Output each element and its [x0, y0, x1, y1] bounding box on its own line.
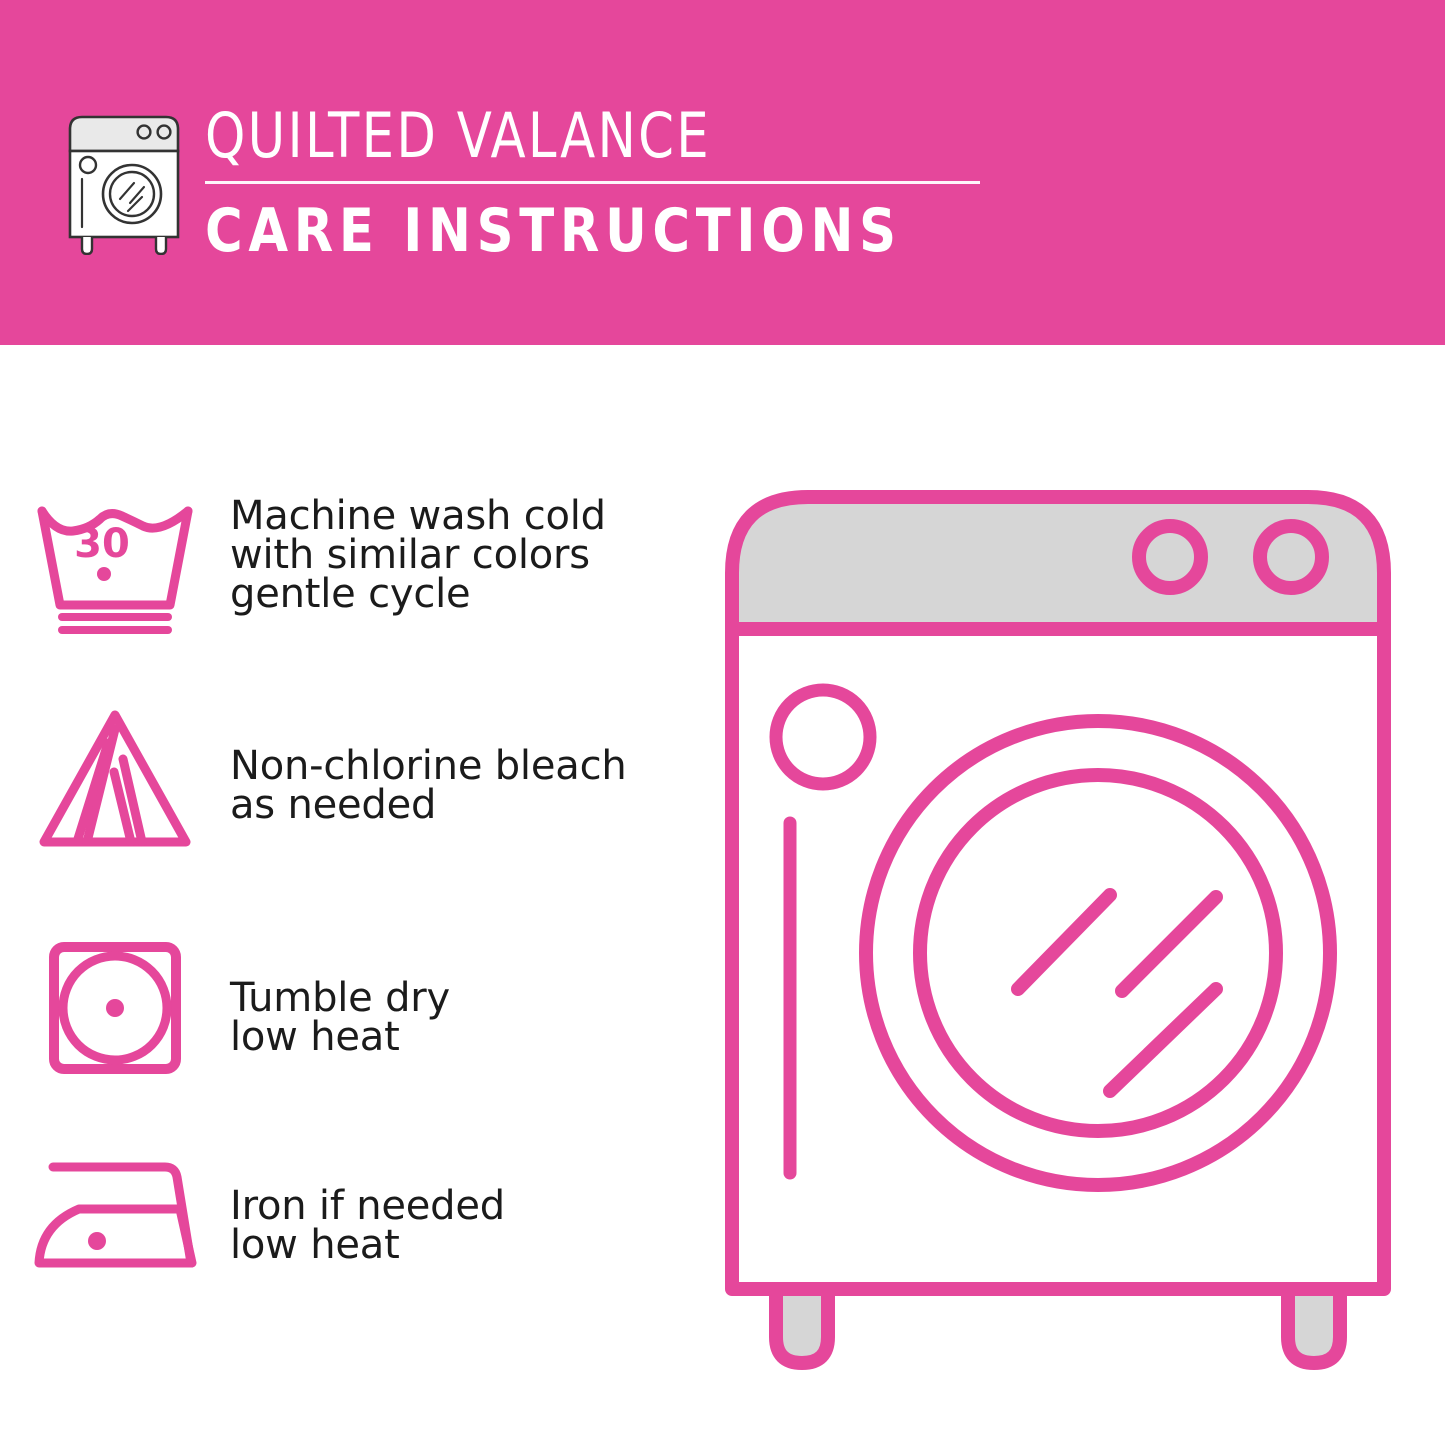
wash-temp-label: 30 [74, 521, 130, 567]
care-text-wash: Machine wash cold with similar colors ge… [230, 495, 606, 614]
washing-machine-illustration [718, 483, 1398, 1373]
wash-tub-30-gentle-icon: 30 [0, 495, 230, 635]
care-row-tumble-dry: Tumble dry low heat [0, 933, 660, 1083]
care-row-iron: Iron if needed low heat [0, 1145, 660, 1285]
care-row-wash: 30 Machine wash cold with similar colors… [0, 495, 660, 635]
title-divider [205, 181, 980, 184]
iron-low-heat-icon [0, 1145, 230, 1285]
care-text-iron: Iron if needed low heat [230, 1145, 505, 1265]
page-title: QUILTED VALANCE [205, 100, 932, 172]
care-row-bleach: Non-chlorine bleach as needed [0, 703, 660, 853]
non-chlorine-bleach-triangle-icon [0, 703, 230, 853]
header-banner: QUILTED VALANCE CARE INSTRUCTIONS [0, 0, 1445, 345]
tumble-dry-low-heat-icon [0, 933, 230, 1083]
care-text-tumble-dry: Tumble dry low heat [230, 933, 450, 1057]
page-subtitle: CARE INSTRUCTIONS [205, 198, 956, 264]
washing-machine-icon [60, 103, 188, 255]
care-text-bleach: Non-chlorine bleach as needed [230, 703, 627, 825]
header-title-block: QUILTED VALANCE CARE INSTRUCTIONS [205, 100, 995, 264]
